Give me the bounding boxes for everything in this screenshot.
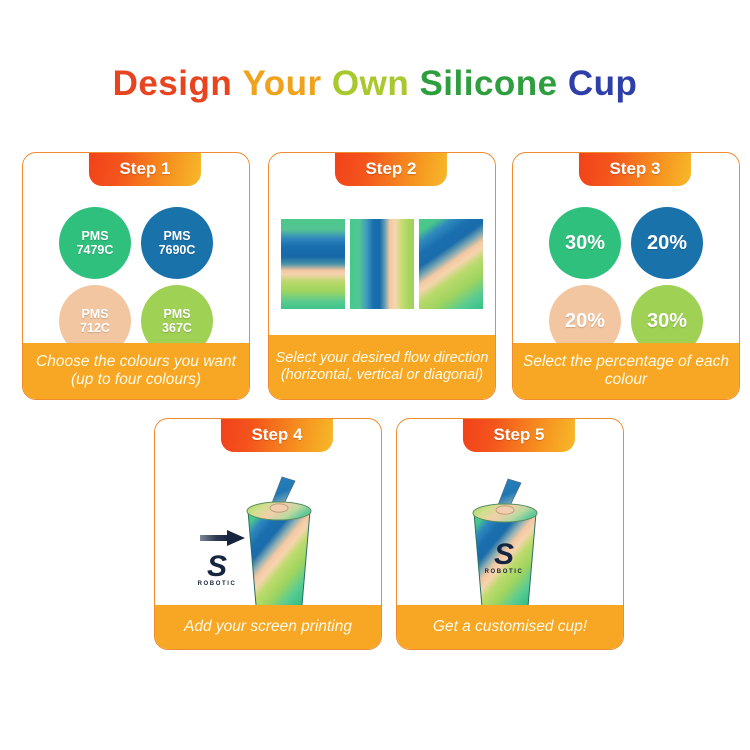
percentage-value: 20%: [565, 310, 605, 333]
cup-illustration-stage-4: S ROBOTIC: [155, 467, 381, 617]
step-card-3: Step 3 30% 20% 20% 30% Select the percen…: [512, 152, 740, 400]
step-card-1: Step 1 PMS 7479C PMS 7690C PMS 712C PMS …: [22, 152, 250, 400]
cup-illustration: [155, 467, 382, 617]
logo-wordmark: ROBOTIC: [189, 581, 245, 587]
robotic-logo: S ROBOTIC: [189, 553, 245, 587]
step-2-body: [269, 193, 495, 309]
swatch-code: 7690C: [159, 243, 196, 257]
step-badge-1: Step 1: [89, 153, 201, 186]
swatch-label: PMS: [81, 307, 108, 321]
colour-swatch-grid: PMS 7479C PMS 7690C PMS 712C PMS 367C: [23, 207, 249, 357]
step-4-body: S ROBOTIC: [155, 459, 381, 617]
step-caption-1: Choose the colours you want (up to four …: [23, 343, 249, 399]
percentage-swatch-blue[interactable]: 20%: [631, 207, 703, 279]
percentage-value: 30%: [565, 232, 605, 255]
logo-s-mark: S: [476, 541, 532, 568]
colour-swatch-7479c[interactable]: PMS 7479C: [59, 207, 131, 279]
step-caption-3: Select the percentage of each colour: [513, 343, 739, 399]
flow-tile-horizontal[interactable]: [281, 219, 345, 309]
swatch-label: PMS: [81, 229, 108, 243]
swatch-code: 367C: [162, 321, 192, 335]
swatch-label: PMS: [163, 307, 190, 321]
cup-body: [248, 511, 310, 610]
lid-straw-hole: [270, 504, 288, 512]
colour-swatch-7690c[interactable]: PMS 7690C: [141, 207, 213, 279]
step-card-4: Step 4: [154, 418, 382, 650]
step-caption-4: Add your screen printing: [155, 605, 381, 649]
robotic-logo-printed: S ROBOTIC: [476, 541, 532, 575]
arrow-icon: [200, 530, 245, 546]
percentage-swatch-green[interactable]: 30%: [549, 207, 621, 279]
title-word-4: Silicone: [419, 64, 557, 104]
title-word-5: Cup: [568, 64, 638, 104]
percentage-value: 30%: [647, 310, 687, 333]
step-badge-2: Step 2: [335, 153, 447, 186]
title-word-1: Design: [113, 64, 233, 104]
percentage-value: 20%: [647, 232, 687, 255]
swatch-code: 7479C: [77, 243, 114, 257]
swatch-code: 712C: [80, 321, 110, 335]
step-1-body: PMS 7479C PMS 7690C PMS 712C PMS 367C: [23, 193, 249, 357]
step-badge-5: Step 5: [463, 419, 575, 452]
flow-tile-diagonal[interactable]: [419, 219, 483, 309]
swatch-label: PMS: [163, 229, 190, 243]
page-title: Design Your Own Silicone Cup: [0, 64, 750, 104]
lid-straw-hole: [496, 506, 514, 514]
cup-illustration-stage-5: S ROBOTIC: [397, 467, 623, 617]
step-badge-3: Step 3: [579, 153, 691, 186]
step-caption-5: Get a customised cup!: [397, 605, 623, 649]
step-3-body: 30% 20% 20% 30%: [513, 193, 739, 357]
step-badge-4: Step 4: [221, 419, 333, 452]
flow-direction-tiles: [269, 219, 495, 309]
step-5-body: S ROBOTIC: [397, 459, 623, 617]
title-word-2: Your: [243, 64, 322, 104]
percentage-grid: 30% 20% 20% 30%: [513, 207, 739, 357]
title-word-3: Own: [332, 64, 409, 104]
step-caption-2: Select your desired flow direction (hori…: [269, 335, 495, 399]
flow-tile-vertical[interactable]: [350, 219, 414, 309]
step-card-5: Step 5: [396, 418, 624, 650]
logo-s-mark: S: [189, 553, 245, 580]
logo-wordmark: ROBOTIC: [476, 569, 532, 575]
step-card-2: Step 2 Select your desired flow directio…: [268, 152, 496, 400]
